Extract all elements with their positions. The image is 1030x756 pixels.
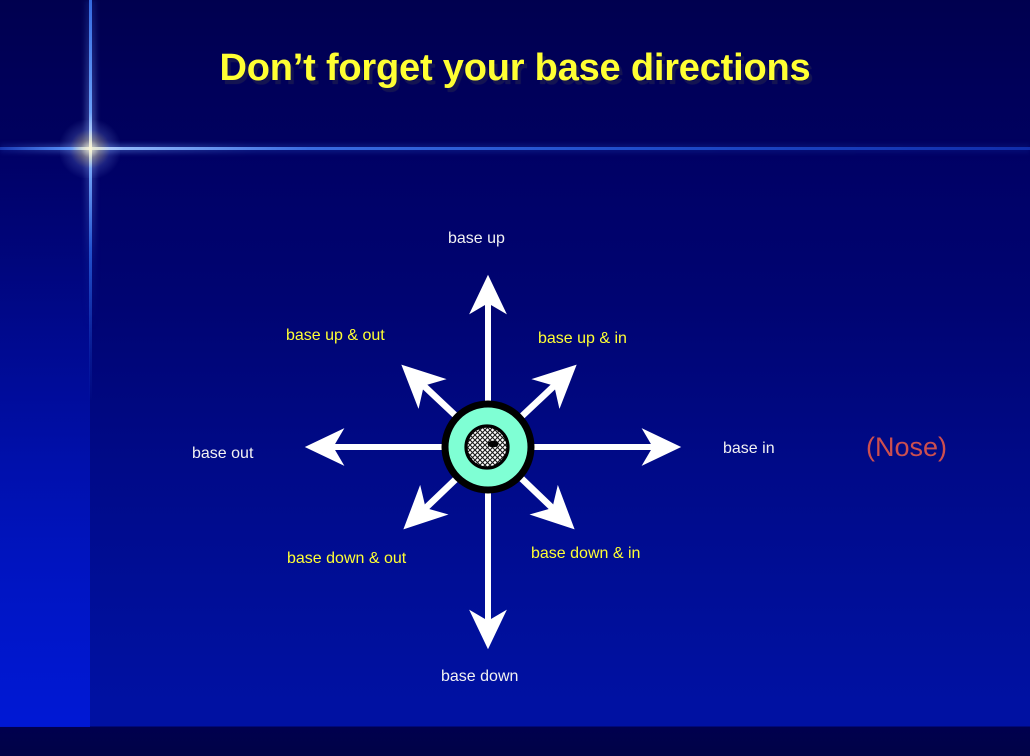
nose-annotation: (Nose) (866, 434, 947, 461)
label-base-up-and-out: base up & out (286, 328, 385, 344)
label-base-down-and-out: base down & out (287, 551, 406, 567)
rule-intersection-highlight (60, 120, 120, 178)
label-base-down: base down (441, 669, 518, 685)
left-accent-panel (0, 150, 90, 727)
label-base-down-and-in: base down & in (531, 546, 640, 562)
label-base-in: base in (723, 441, 775, 457)
label-base-up: base up (448, 231, 505, 247)
header-rule-horizontal (0, 147, 1030, 150)
label-base-out: base out (192, 446, 253, 462)
label-base-up-and-in: base up & in (538, 331, 627, 347)
slide: Don’t forget your base directions (0, 0, 1030, 756)
page-title: Don’t forget your base directions (0, 47, 1030, 90)
